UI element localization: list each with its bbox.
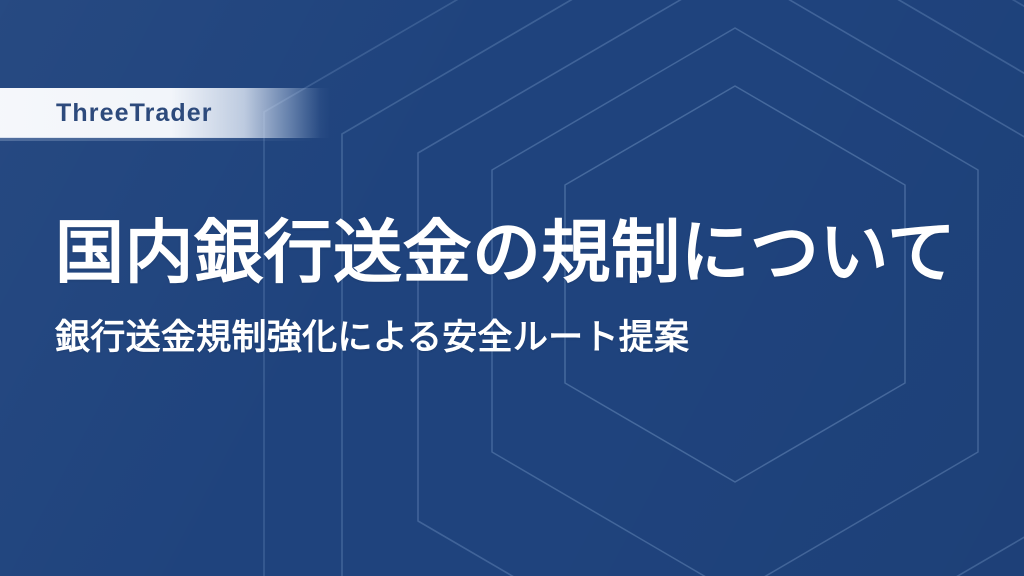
- slide-subtitle: 銀行送金規制強化による安全ルート提案: [55, 317, 1005, 359]
- title-slide: ThreeTrader 国内銀行送金の規制について 銀行送金規制強化による安全ル…: [0, 0, 1024, 576]
- slide-title: 国内銀行送金の規制について: [55, 214, 1005, 291]
- brand-logo-banner: ThreeTrader: [0, 88, 330, 138]
- headline-block: 国内銀行送金の規制について 銀行送金規制強化による安全ルート提案: [55, 214, 1005, 359]
- brand-logo-text: ThreeTrader: [56, 101, 213, 126]
